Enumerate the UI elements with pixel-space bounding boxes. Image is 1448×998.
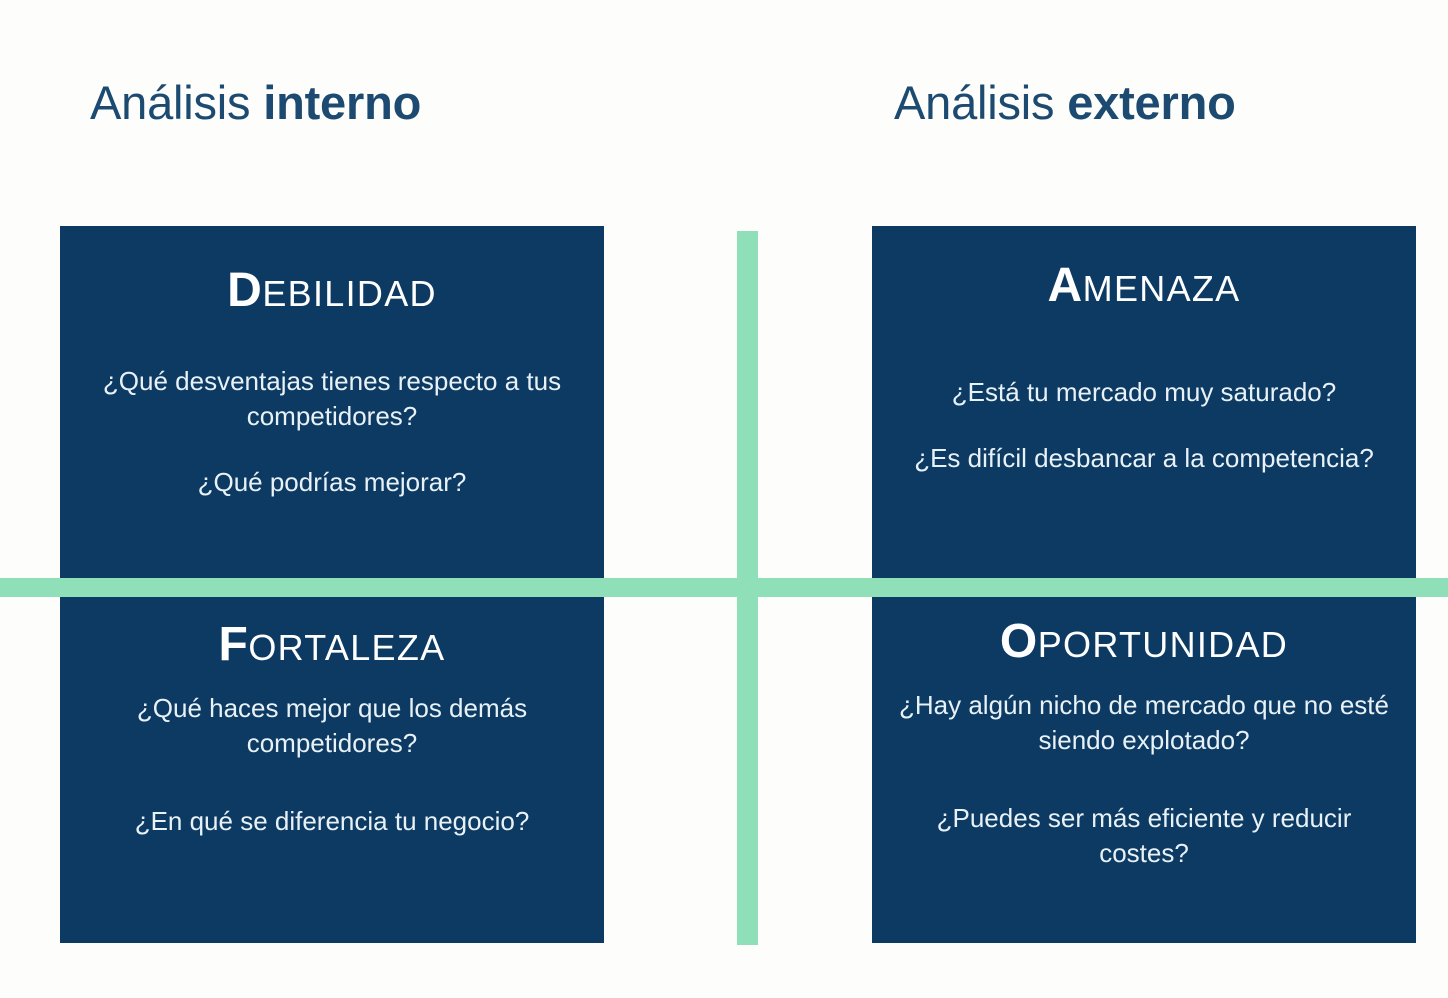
quadrant-weakness-title-rest: EBILIDAD	[262, 273, 436, 314]
heading-internal-regular: Análisis	[90, 76, 263, 129]
quadrant-strength-title-rest: ORTALEZA	[248, 627, 445, 668]
heading-external-regular: Análisis	[894, 76, 1067, 129]
quadrant-strength: FORTALEZA ¿Qué haces mejor que los demás…	[60, 596, 604, 943]
divider-vertical	[737, 231, 758, 945]
heading-external-bold: externo	[1067, 76, 1235, 129]
quadrant-threat-title: AMENAZA	[872, 262, 1416, 310]
quadrant-opportunity-question-2: ¿Puedes ser más eficiente y reducir cost…	[896, 801, 1392, 871]
quadrant-threat: AMENAZA ¿Está tu mercado muy saturado? ¿…	[872, 226, 1416, 578]
heading-external-analysis: Análisis externo	[894, 74, 1236, 132]
quadrant-threat-question-1: ¿Está tu mercado muy saturado?	[896, 375, 1392, 410]
quadrant-strength-title: FORTALEZA	[60, 621, 604, 669]
headings-row: Análisis interno Análisis externo	[0, 0, 1448, 226]
quadrant-threat-title-rest: MENAZA	[1083, 268, 1241, 309]
quadrant-weakness-question-1: ¿Qué desventajas tienes respecto a tus c…	[84, 364, 580, 434]
heading-internal-analysis: Análisis interno	[90, 74, 421, 132]
quadrant-opportunity-title: OPORTUNIDAD	[872, 618, 1416, 666]
quadrant-weakness-body: ¿Qué desventajas tienes respecto a tus c…	[60, 364, 604, 500]
quadrant-opportunity-body: ¿Hay algún nicho de mercado que no esté …	[872, 688, 1416, 871]
quadrant-threat-body: ¿Está tu mercado muy saturado? ¿Es difíc…	[872, 375, 1416, 476]
quadrant-threat-question-2: ¿Es difícil desbancar a la competencia?	[896, 441, 1392, 476]
quadrant-opportunity: OPORTUNIDAD ¿Hay algún nicho de mercado …	[872, 596, 1416, 943]
quadrant-weakness-title-initial: D	[227, 264, 262, 317]
quadrant-strength-title-initial: F	[219, 618, 249, 671]
quadrant-strength-question-2: ¿En qué se diferencia tu negocio?	[84, 804, 580, 839]
heading-internal-bold: interno	[263, 76, 421, 129]
quadrant-weakness-question-2: ¿Qué podrías mejorar?	[84, 465, 580, 500]
quadrant-weakness-title: DEBILIDAD	[60, 267, 604, 315]
quadrant-weakness: DEBILIDAD ¿Qué desventajas tienes respec…	[60, 226, 604, 578]
quadrant-strength-body: ¿Qué haces mejor que los demás competido…	[60, 691, 604, 839]
quadrant-opportunity-title-initial: O	[1000, 615, 1038, 668]
quadrant-opportunity-title-rest: PORTUNIDAD	[1038, 624, 1288, 665]
quadrant-threat-title-initial: A	[1048, 259, 1083, 312]
quadrant-opportunity-question-1: ¿Hay algún nicho de mercado que no esté …	[896, 688, 1392, 758]
quadrant-strength-question-1: ¿Qué haces mejor que los demás competido…	[84, 691, 580, 761]
divider-horizontal	[0, 578, 1448, 597]
